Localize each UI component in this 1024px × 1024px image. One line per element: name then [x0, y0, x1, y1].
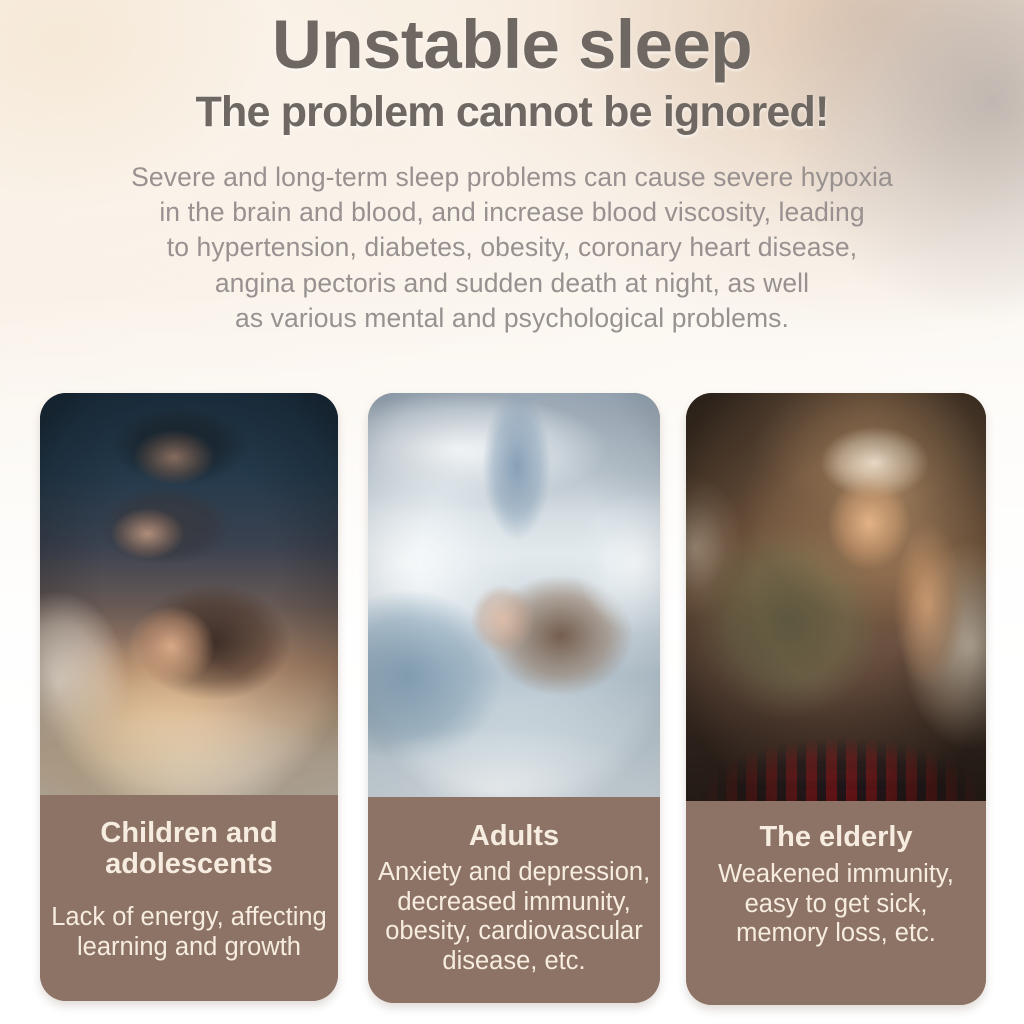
card-title-line: Children and	[50, 818, 328, 849]
card-body-line: Lack of energy, affecting	[50, 903, 328, 933]
card-title: The elderly	[696, 801, 976, 853]
photo-family-sleeping	[40, 393, 338, 795]
poster-text-block: Unstable sleep The problem cannot be ign…	[0, 0, 1024, 336]
photo-elderly-man	[686, 393, 986, 801]
card-caption: The elderly Weakened immunity, easy to g…	[686, 801, 986, 1005]
card-elderly[interactable]: The elderly Weakened immunity, easy to g…	[686, 393, 986, 1005]
page-title: Unstable sleep	[0, 0, 1024, 79]
description-line: angina pectoris and sudden death at nigh…	[62, 266, 962, 301]
description-line: Severe and long-term sleep problems can …	[62, 160, 962, 195]
card-body-line: Weakened immunity,	[696, 860, 976, 890]
sleep-health-poster: Unstable sleep The problem cannot be ign…	[0, 0, 1024, 1024]
card-caption: Adults Anxiety and depression, decreased…	[368, 797, 660, 1003]
poster-description: Severe and long-term sleep problems can …	[0, 160, 1024, 336]
card-body-line: decreased immunity,	[378, 888, 650, 918]
card-title-line: adolescents	[50, 849, 328, 880]
photo-vignette	[40, 393, 338, 795]
card-body-line: Anxiety and depression,	[378, 858, 650, 888]
card-title: Children and adolescents	[50, 795, 328, 880]
card-body-line: memory loss, etc.	[696, 919, 976, 949]
page-subtitle: The problem cannot be ignored!	[0, 91, 1024, 134]
card-title: Adults	[378, 797, 650, 852]
card-title-line: Adults	[378, 821, 650, 852]
description-line: in the brain and blood, and increase blo…	[62, 195, 962, 230]
card-title-line: The elderly	[696, 822, 976, 853]
card-body-line: easy to get sick,	[696, 890, 976, 920]
description-line: to hypertension, diabetes, obesity, coro…	[62, 230, 962, 265]
card-body-line: disease, etc.	[378, 947, 650, 977]
photo-vignette	[686, 393, 986, 801]
card-body: Anxiety and depression, decreased immuni…	[378, 852, 650, 976]
card-body-line: learning and growth	[50, 933, 328, 963]
photo-vignette	[368, 393, 660, 797]
description-line: as various mental and psychological prob…	[62, 301, 962, 336]
card-adults[interactable]: Adults Anxiety and depression, decreased…	[368, 393, 660, 1003]
card-body-line: obesity, cardiovascular	[378, 917, 650, 947]
photo-woman-awake	[368, 393, 660, 797]
card-children-adolescents[interactable]: Children and adolescents Lack of energy,…	[40, 393, 338, 1001]
card-body: Weakened immunity, easy to get sick, mem…	[696, 853, 976, 949]
card-body: Lack of energy, affecting learning and g…	[50, 880, 328, 962]
card-caption: Children and adolescents Lack of energy,…	[40, 795, 338, 1001]
